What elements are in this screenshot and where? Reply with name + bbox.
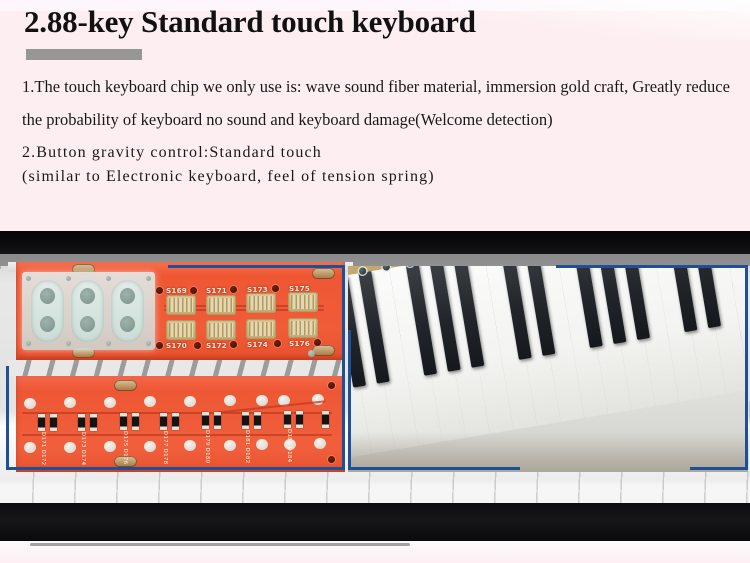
gold-touch-contact <box>206 320 236 340</box>
solder-pad <box>104 397 116 408</box>
pcb-via <box>230 341 237 348</box>
diode <box>242 412 249 429</box>
description-panel: 2.88-key Standard touch keyboard 1.The t… <box>0 0 750 231</box>
pcb-inset-photo: S169 S171 S173 S175 S170 S172 S174 S176 <box>8 262 345 472</box>
pcb-via <box>156 287 163 294</box>
solder-pad <box>24 442 36 453</box>
silkscreen-label-s176: S176 <box>289 339 310 348</box>
pad-hole <box>40 288 55 304</box>
diode <box>202 412 209 429</box>
feature-paragraph-2-line-2: (similar to Electronic keyboard, feel of… <box>22 165 738 189</box>
module-screw <box>146 341 151 346</box>
module-screw <box>106 341 111 346</box>
mount-slot-top <box>114 380 137 391</box>
product-detail-page: 2.88-key Standard touch keyboard 1.The t… <box>0 0 750 563</box>
title-underline-bar <box>26 49 142 60</box>
page-title: 2.88-key Standard touch keyboard <box>24 4 476 40</box>
component-reference-label: D181 D182 <box>244 430 250 463</box>
module-screw <box>26 276 31 281</box>
solder-pad <box>64 397 76 408</box>
gold-touch-contact <box>288 318 318 338</box>
pad-hole <box>120 288 135 304</box>
keys-closeup <box>348 266 748 472</box>
component-reference-label: D171 D172 <box>40 432 46 465</box>
pcb-via <box>328 456 335 463</box>
solder-pad <box>184 396 196 407</box>
pcb-via <box>314 339 321 346</box>
component-reference-label: D179 D180 <box>204 430 210 463</box>
diode <box>214 412 221 429</box>
solder-pad <box>104 441 116 452</box>
pcb-via <box>156 342 163 349</box>
solder-pad <box>224 440 236 451</box>
gold-touch-contact <box>246 293 276 313</box>
diode <box>284 411 291 428</box>
feature-paragraph-2: 2.Button gravity control:Standard touch … <box>22 141 738 189</box>
diode <box>322 411 329 428</box>
pcb-board-lower: D171 D172 D173 D174 D175 D176 D177 D178 … <box>16 376 345 472</box>
rubber-pad <box>71 280 104 342</box>
component-reference-label: D173 D174 <box>80 432 86 465</box>
solder-pad <box>144 396 156 407</box>
diode <box>90 414 97 431</box>
silkscreen-label-s174: S174 <box>247 340 268 349</box>
pad-hole <box>80 288 95 304</box>
solder-pad <box>256 439 268 450</box>
silkscreen-label-s171: S171 <box>206 286 227 295</box>
keybed-bottom-strip <box>0 541 750 563</box>
diode <box>296 411 303 428</box>
diode <box>78 414 85 431</box>
diode <box>132 413 139 430</box>
silkscreen-label-s173: S173 <box>247 285 268 294</box>
rubber-pad <box>31 280 64 342</box>
diode <box>38 414 45 431</box>
solder-pad <box>224 395 236 406</box>
gold-touch-contact <box>166 295 196 315</box>
solder-pad <box>314 438 326 449</box>
pcb-via <box>190 287 197 294</box>
pcb-screw-hole <box>308 350 315 357</box>
pcb-via <box>328 382 335 389</box>
pad-hole <box>80 316 95 332</box>
gold-touch-contact <box>166 320 196 340</box>
keybed-front-edge <box>0 503 750 541</box>
pcb-board-upper: S169 S171 S173 S175 S170 S172 S174 S176 <box>16 262 345 360</box>
diode <box>254 412 261 429</box>
silkscreen-label-s170: S170 <box>166 341 187 350</box>
pcb-via <box>272 285 279 292</box>
gold-touch-contact <box>246 319 276 339</box>
pcb-via <box>194 342 201 349</box>
module-screw <box>26 341 31 346</box>
diode <box>160 413 167 430</box>
floor-surface <box>348 432 748 472</box>
component-reference-label: D175 D176 <box>122 431 128 464</box>
mount-slot-right-top <box>312 268 335 279</box>
feature-paragraph-1: 1.The touch keyboard chip we only use is… <box>22 70 738 136</box>
pcb-via <box>230 286 237 293</box>
feature-paragraph-2-line-1: 2.Button gravity control:Standard touch <box>22 141 738 165</box>
module-screw <box>146 276 151 281</box>
pad-hole <box>120 316 135 332</box>
diode <box>172 413 179 430</box>
module-screw <box>106 276 111 281</box>
gold-touch-contact <box>288 292 318 312</box>
photo-dark-band <box>0 231 750 254</box>
module-screw <box>66 341 71 346</box>
silkscreen-label-s175: S175 <box>289 284 310 293</box>
rubber-pad <box>111 280 144 342</box>
keybed-inset-photo <box>348 262 748 472</box>
rubber-contact-module <box>22 272 155 350</box>
pad-hole <box>40 316 55 332</box>
component-reference-label: D177 D178 <box>162 431 168 464</box>
solder-pad <box>184 440 196 451</box>
gold-touch-contact <box>206 295 236 315</box>
solder-pad <box>24 398 36 409</box>
mount-slot-right-bottom <box>312 345 335 356</box>
solder-pad <box>64 442 76 453</box>
silkscreen-label-s169: S169 <box>166 286 187 295</box>
pcb-via <box>274 340 281 347</box>
diode <box>120 413 127 430</box>
keybed-sliver-middle <box>8 360 353 376</box>
solder-pad <box>256 395 268 406</box>
component-reference-label: D183 D184 <box>286 429 292 462</box>
diode <box>50 414 57 431</box>
module-screw <box>66 276 71 281</box>
description-body: 1.The touch keyboard chip we only use is… <box>22 70 738 189</box>
silkscreen-label-s172: S172 <box>206 341 227 350</box>
solder-pad <box>144 441 156 452</box>
